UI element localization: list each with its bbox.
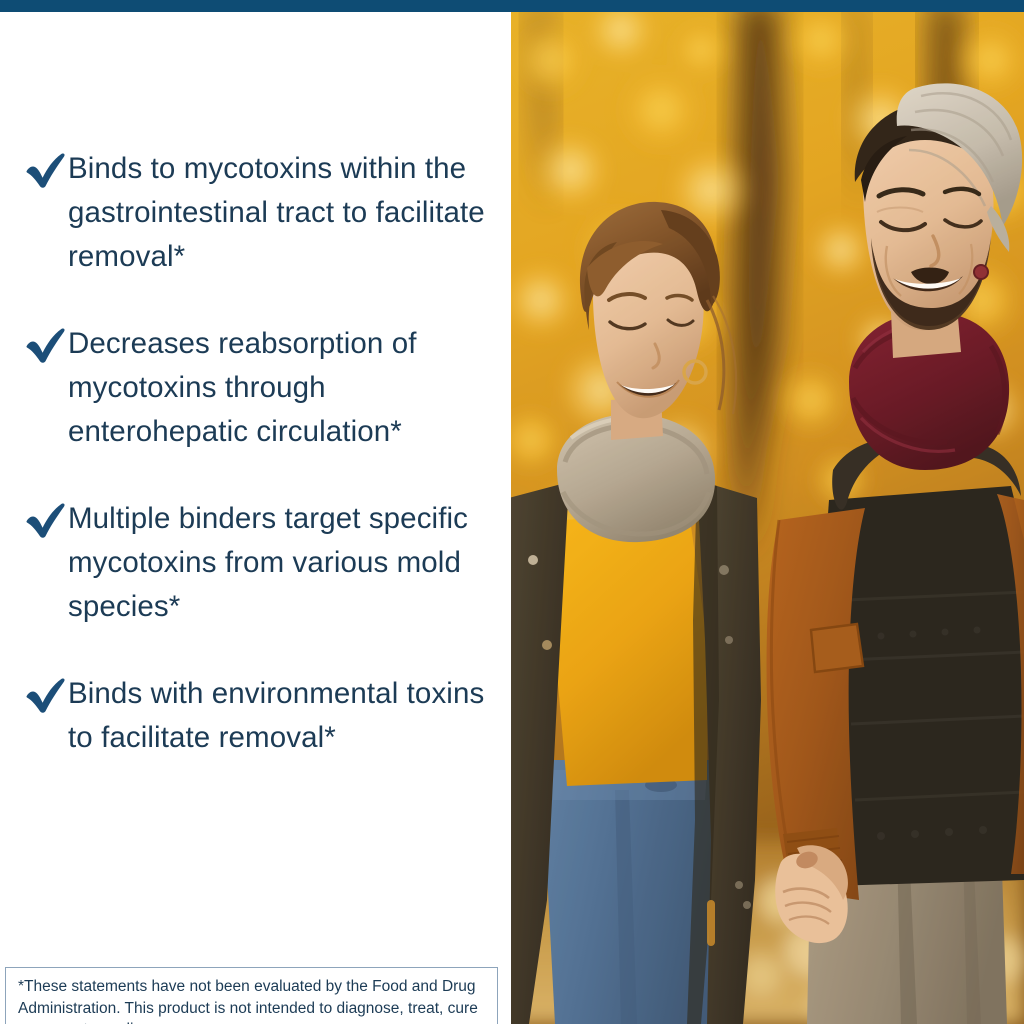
list-item: Decreases reabsorption of mycotoxins thr… bbox=[0, 322, 511, 454]
checkmark-icon bbox=[24, 147, 68, 188]
checkmark-icon bbox=[24, 672, 68, 713]
disclaimer-box: *These statements have not been evaluate… bbox=[5, 967, 498, 1024]
checkmark-icon bbox=[24, 322, 68, 363]
lifestyle-photo bbox=[511, 0, 1024, 1024]
list-item: Multiple binders target specific mycotox… bbox=[0, 497, 511, 629]
list-item: Binds to mycotoxins within the gastroint… bbox=[0, 147, 511, 279]
checkmark-icon bbox=[24, 497, 68, 538]
benefits-list: Binds to mycotoxins within the gastroint… bbox=[0, 147, 511, 803]
top-accent-bar bbox=[0, 0, 1024, 12]
benefits-panel: Binds to mycotoxins within the gastroint… bbox=[0, 12, 511, 1024]
list-item-label: Multiple binders target specific mycotox… bbox=[68, 497, 511, 629]
promotional-graphic: Binds to mycotoxins within the gastroint… bbox=[0, 0, 1024, 1024]
disclaimer-text: *These statements have not been evaluate… bbox=[6, 968, 497, 1024]
list-item-label: Binds with environmental toxins to facil… bbox=[68, 672, 511, 760]
list-item-label: Binds to mycotoxins within the gastroint… bbox=[68, 147, 511, 279]
list-item: Binds with environmental toxins to facil… bbox=[0, 672, 511, 760]
list-item-label: Decreases reabsorption of mycotoxins thr… bbox=[68, 322, 511, 454]
